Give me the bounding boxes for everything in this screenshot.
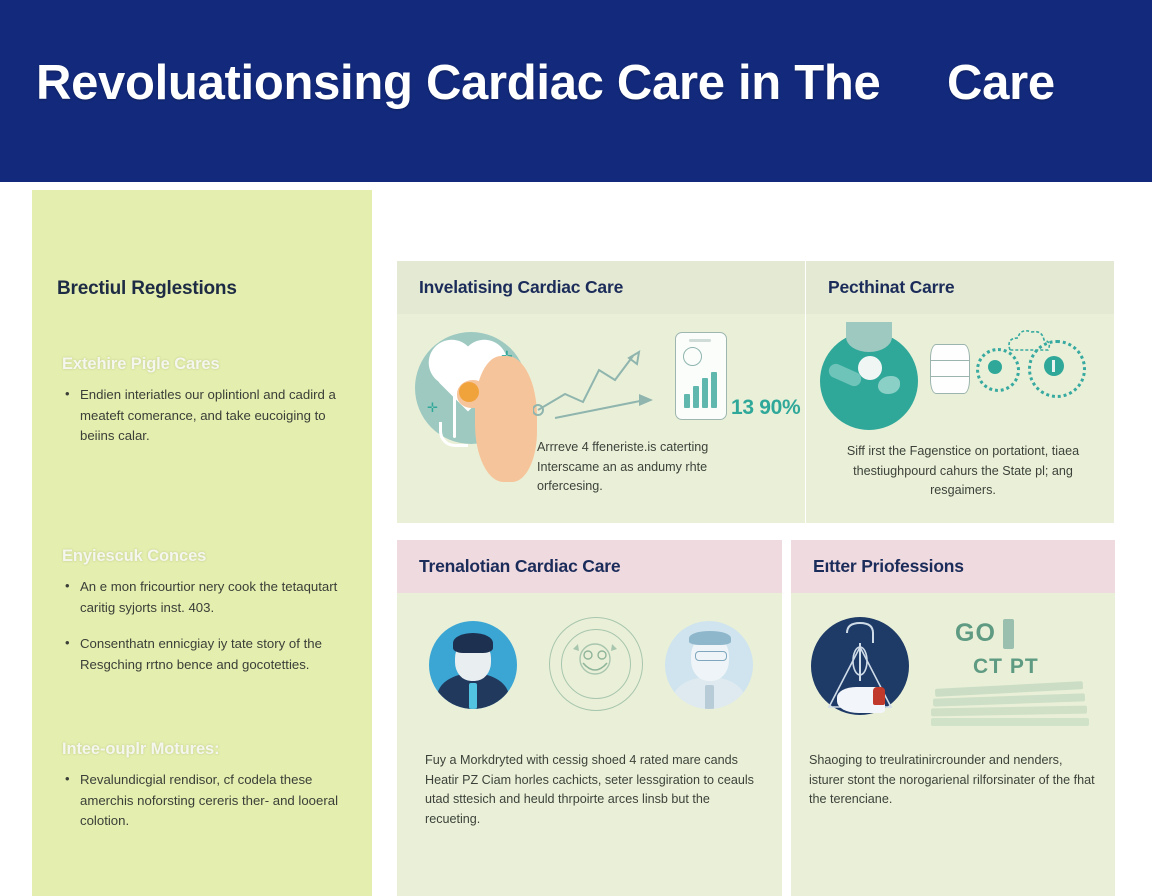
plus-marker: ✛ (427, 402, 439, 414)
phone-bar (702, 378, 708, 408)
sidebar-bullet: An e mon fricourtior nery cook the tetaq… (62, 577, 352, 618)
tie-shape (469, 683, 477, 709)
pill-icon (459, 382, 479, 402)
stat-value: 13 90% (731, 396, 800, 420)
header-banner: Revoluationsing Cardiac Care in The Care (0, 0, 1152, 182)
card-text: Siff irst the Fagenstice on portationt, … (824, 442, 1102, 501)
card-text: Fuy a Morkdryted with cessig shoed 4 rat… (425, 751, 755, 829)
heart-highlight (858, 356, 882, 380)
hair-shape (689, 631, 731, 645)
hair-shape (453, 633, 493, 653)
card-body: Fuy a Morkdryted with cessig shoed 4 rat… (397, 593, 782, 896)
card-header: Pecthinat Carre (806, 261, 1114, 314)
label-go: GO (955, 619, 996, 648)
portrait-doctor-icon (665, 621, 753, 709)
card-header: Trenalotian Cardiac Care (397, 540, 782, 593)
phone-bar (684, 394, 690, 408)
portrait-male-icon (429, 621, 517, 709)
label-ctpt: CT PT (973, 655, 1039, 679)
sidebar-section-title: Extehire Pigle Cares (62, 355, 352, 374)
sidebar-heading: Brectiul Reglestions (57, 278, 237, 300)
card-text: Arrreve 4 ffeneriste.is caterting Inters… (537, 438, 765, 497)
card-trenalotian-cardiac-care: Trenalotian Cardiac Care Fuy (397, 540, 782, 896)
sidebar: Brectiul Reglestions Extehire Pigle Care… (32, 190, 372, 896)
ring-core (988, 360, 1002, 374)
mobile-chart-icon (675, 332, 727, 420)
tie-shape (705, 685, 714, 709)
paper-stack-icon (931, 685, 1091, 731)
card-eitter-priofessions: Eıtter Priofessions GO CT PT Shaoging to… (791, 540, 1115, 896)
card-body: Siff irst the Fagenstice on portationt, … (806, 314, 1114, 523)
page-title: Revoluationsing Cardiac Care in The Care (36, 55, 1126, 111)
sidebar-section-title: Intee-ouplr Motures: (62, 740, 352, 759)
heart-tail-curve (439, 422, 468, 447)
phone-speaker (689, 339, 711, 342)
cycle-arrows-icon (561, 629, 629, 697)
cloud-connector-icon (1002, 326, 1056, 358)
phone-gauge-icon (683, 347, 702, 366)
sidebar-section-3: Intee-ouplr Motures: Revalundicgial rend… (62, 740, 352, 848)
sidebar-bullet: Consenthatn ennicgiay iy tate story of t… (62, 634, 352, 675)
card-invelatising-cardiac-care: Invelatising Cardiac Care ✛ ✛ 13 90% Arr… (397, 261, 805, 523)
trend-arrow-icon (533, 344, 668, 426)
sidebar-section-1: Extehire Pigle Cares Endien interiatles … (62, 355, 352, 463)
database-icon (930, 344, 970, 394)
phone-bar (693, 386, 699, 408)
go-bar-icon (1003, 619, 1014, 649)
sidebar-section-2: Enyiescuk Conces An e mon fricourtior ne… (62, 547, 352, 691)
sidebar-section-title: Enyiescuk Conces (62, 547, 352, 566)
card-body: ✛ ✛ 13 90% Arrreve 4 ffeneriste.is cater… (397, 314, 805, 523)
sidebar-bullet: Revalundicgial rendisor, cf codela these… (62, 770, 352, 832)
heart-notch (846, 322, 892, 352)
red-tip-icon (873, 687, 885, 705)
sidebar-bullet: Endien interiatles our oplintionl and ca… (62, 385, 352, 447)
glasses-icon (695, 651, 727, 661)
card-pecthinat-carre: Pecthinat Carre Siff irst the Fagenstice… (806, 261, 1114, 523)
card-header: Eıtter Priofessions (791, 540, 1115, 593)
hand-shape (475, 356, 537, 482)
ring-core-bar (1052, 360, 1055, 372)
card-text: Shaoging to treulratinircrounder and nen… (809, 751, 1099, 810)
card-header: Invelatising Cardiac Care (397, 261, 805, 314)
card-body: GO CT PT Shaoging to treulratinircrounde… (791, 593, 1115, 896)
phone-bar (711, 372, 717, 408)
